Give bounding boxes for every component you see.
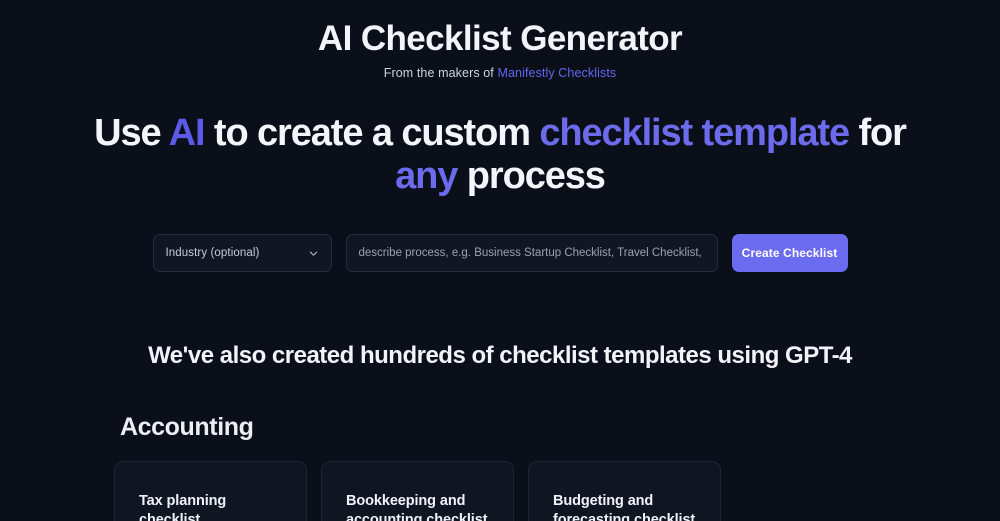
headline-part-checklist-template: checklist template [539, 112, 849, 154]
template-card-title: Bookkeeping and accounting checklist [346, 492, 489, 521]
template-card-title: Budgeting and forecasting checklist [553, 492, 696, 521]
headline-part-3: to create a custom [204, 112, 539, 154]
category-title-accounting: Accounting [0, 413, 1000, 442]
page-title: AI Checklist Generator [0, 18, 1000, 59]
headline-part-5: for [849, 112, 906, 154]
create-checklist-button[interactable]: Create Checklist [732, 234, 848, 272]
process-input[interactable] [346, 234, 718, 272]
manifestly-checklists-link[interactable]: Manifestly Checklists [497, 66, 616, 80]
headline-part-ai: AI [169, 112, 205, 154]
template-card[interactable]: Budgeting and forecasting checklist Budg… [528, 461, 721, 521]
template-card-list: Tax planning checklist Tax planning chec… [114, 461, 1000, 521]
templates-heading: We've also created hundreds of checklist… [0, 342, 1000, 370]
templates-carousel: Tax planning checklist Tax planning chec… [0, 461, 1000, 521]
chevron-down-icon [308, 248, 319, 259]
site-header: AI Checklist Generator From the makers o… [0, 0, 1000, 80]
industry-select-label: Industry (optional) [166, 247, 308, 259]
headline-part-1: Use [94, 112, 168, 154]
generator-form: Industry (optional) Create Checklist [0, 234, 1000, 272]
template-card[interactable]: Tax planning checklist Tax planning chec… [114, 461, 307, 521]
hero-headline: Use AI to create a custom checklist temp… [0, 112, 1000, 197]
template-card[interactable]: Bookkeeping and accounting checklist Boo… [321, 461, 514, 521]
site-tagline: From the makers of Manifestly Checklists [0, 66, 1000, 80]
industry-select[interactable]: Industry (optional) [153, 234, 332, 272]
templates-section: We've also created hundreds of checklist… [0, 342, 1000, 521]
page-root: AI Checklist Generator From the makers o… [0, 0, 1000, 521]
hero-section: Use AI to create a custom checklist temp… [0, 112, 1000, 272]
template-card-title: Tax planning checklist [139, 492, 282, 521]
headline-part-any: any [395, 155, 457, 197]
headline-part-7: process [457, 155, 605, 197]
tagline-prefix: From the makers of [384, 66, 498, 80]
